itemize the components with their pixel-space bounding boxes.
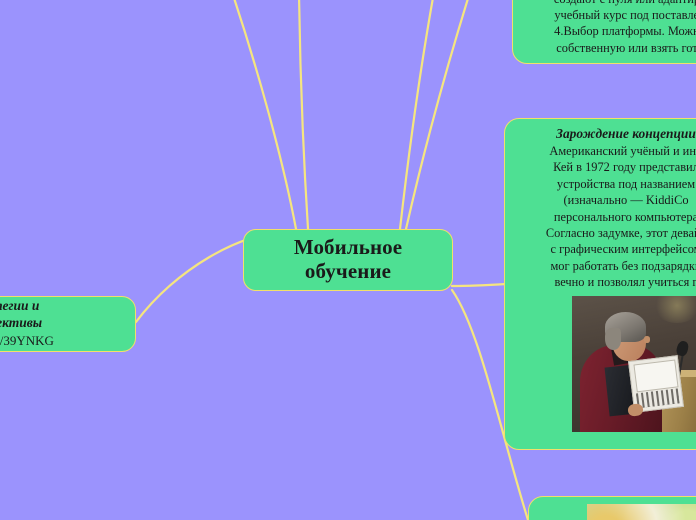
branch-up-center [299,0,308,229]
central-topic-title: Мобильное обучение [244,236,452,283]
top-right-node-line: создают с нуля или адаптиру [525,0,696,7]
branch-to-origin [452,284,506,286]
branch-up-right-b [406,0,470,229]
origin-concept-line: устройства под названием [515,176,696,192]
left-node-heading-line-2: рспективы [0,315,125,332]
photo-person-nose [644,336,651,343]
top-right-node-line: учебный курс под поставлен [525,7,696,23]
dynabook-screen [633,360,678,393]
classroom-kids-photo: i. ИНФО [587,504,696,520]
origin-concept-line: с графическим интерфейсом [515,241,696,257]
origin-concept-line: Согласно задумке, этот девайс [515,225,696,241]
top-right-node-line: 4.Выбор платформы. Можно [525,23,696,39]
origin-concept-line: (изначально — KiddiCo [515,192,696,208]
origin-concept-line: персонального компьютера [515,209,696,225]
photo-wall-light [654,296,696,323]
photo-background-blur [587,504,696,520]
left-node-url[interactable]: clck.ru/39YNKG [0,333,125,349]
origin-concept-node[interactable]: Зарождение концепции Американский учёный… [504,118,696,450]
origin-concept-line: Американский учёный и инн [515,143,696,159]
central-topic-node[interactable]: Мобильное обучение [243,229,453,291]
mindmap-canvas[interactable]: Мобильное обучение ратегии и рспективы c… [0,0,696,520]
branch-up-right-a [400,0,434,229]
origin-concept-line: мог работать без подзарядки [515,258,696,274]
alan-kay-photo [572,296,696,432]
bottom-right-photo-wrap: i. ИНФО [537,504,696,520]
left-node-strategies[interactable]: ратегии и рспективы clck.ru/39YNKG [0,296,136,352]
origin-concept-title: Зарождение концепции [515,125,696,142]
origin-concept-photo-wrap [515,296,696,432]
left-node-heading-line-1: ратегии и [0,298,125,315]
origin-concept-line: вечно и позволял учиться г [515,274,696,290]
top-right-node-line: собственную или взять гото [525,40,696,56]
branch-up-left [232,0,296,229]
origin-concept-line: Кей в 1972 году представил [515,159,696,175]
photo-person-hair-side [605,328,621,350]
top-right-node-platform[interactable]: создают с нуля или адаптиру учебный курс… [512,0,696,64]
bottom-right-node[interactable]: i. ИНФО [528,496,696,520]
